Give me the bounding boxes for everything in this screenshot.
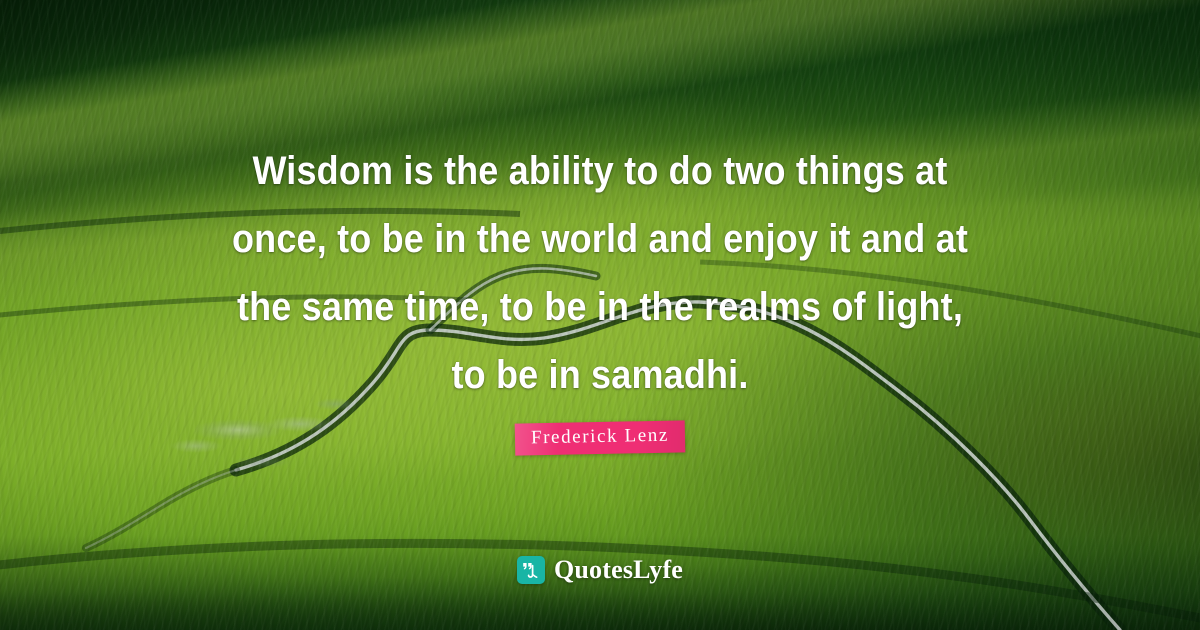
brand-name: QuotesLyfe xyxy=(554,557,683,583)
author-badge[interactable]: Frederick Lenz xyxy=(515,420,686,455)
quote-line-4: to be in samadhi. xyxy=(123,341,1077,409)
quote-line-2: once, to be in the world and enjoy it an… xyxy=(123,205,1077,273)
quote-mark-icon xyxy=(517,556,545,584)
author-attribution: Frederick Lenz xyxy=(0,422,1200,454)
quote-line-3: the same time, to be in the realms of li… xyxy=(123,273,1077,341)
author-name: Frederick Lenz xyxy=(531,425,669,449)
quote-line-1: Wisdom is the ability to do two things a… xyxy=(123,137,1077,205)
quote-text-block: Wisdom is the ability to do two things a… xyxy=(0,137,1200,409)
poster-content: Wisdom is the ability to do two things a… xyxy=(0,0,1200,630)
brand-logo[interactable]: QuotesLyfe xyxy=(0,556,1200,584)
quote-poster: Wisdom is the ability to do two things a… xyxy=(0,0,1200,630)
